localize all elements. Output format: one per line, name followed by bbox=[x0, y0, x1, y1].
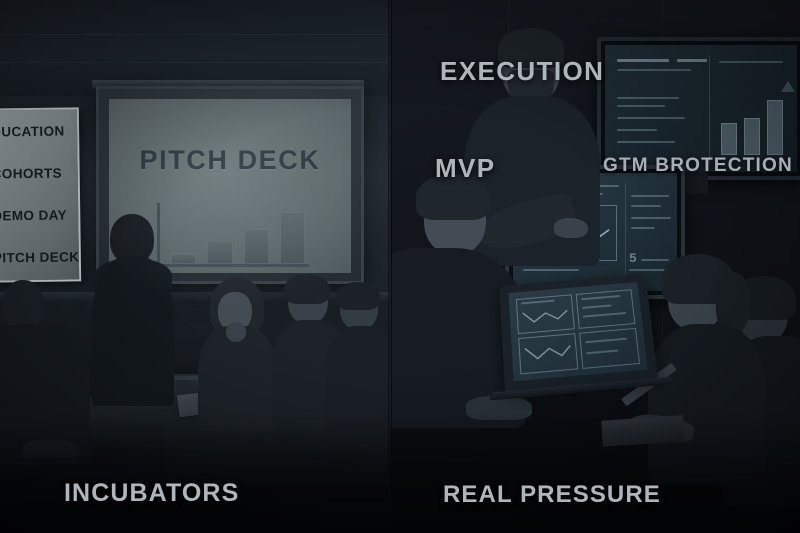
screen-text-line bbox=[617, 97, 679, 99]
dashboard-card bbox=[579, 328, 640, 369]
screen-text-line bbox=[617, 129, 657, 131]
figure-attendee-center-woman bbox=[196, 282, 278, 432]
slide-bar-chart bbox=[157, 203, 309, 267]
caption-real-pressure: REAL PRESSURE bbox=[443, 481, 661, 509]
screen-text-line bbox=[617, 141, 675, 143]
screen-heading-line bbox=[677, 59, 707, 62]
screen-text-line bbox=[631, 227, 655, 229]
screen-divider bbox=[709, 55, 710, 165]
monitor-screen bbox=[605, 45, 797, 172]
label-execution: EXECUTION bbox=[440, 56, 604, 87]
presenter-torso bbox=[92, 256, 174, 406]
chart-bar bbox=[171, 253, 196, 264]
poster-shading bbox=[0, 109, 79, 280]
attendee-hands bbox=[22, 440, 78, 458]
screen-heading-line bbox=[617, 59, 669, 62]
lead-pointing-hand bbox=[554, 218, 588, 238]
chart-bar bbox=[744, 118, 760, 155]
slide-title: PITCH DECK bbox=[109, 145, 351, 176]
chart-bar bbox=[721, 123, 737, 155]
screen-text-line bbox=[631, 195, 669, 197]
attendee-hair bbox=[284, 274, 330, 304]
dashboard-card bbox=[518, 333, 578, 374]
screen-text-line bbox=[631, 205, 661, 207]
chart-bar bbox=[280, 212, 305, 264]
monitor-bar-chart bbox=[721, 93, 783, 155]
attendee-head bbox=[2, 280, 44, 330]
screen-text-line bbox=[719, 61, 783, 63]
dashboard-card bbox=[516, 294, 575, 334]
chart-bar bbox=[244, 229, 269, 264]
screen-divider bbox=[625, 183, 626, 287]
screen-text-line bbox=[617, 69, 691, 71]
attendee-hands bbox=[226, 322, 246, 342]
label-gtm-brotection: GTM BROTECTION bbox=[603, 155, 793, 177]
figure-attendee-far-right bbox=[330, 284, 390, 434]
analyst-torso bbox=[648, 324, 766, 484]
laptop-lid bbox=[499, 274, 658, 392]
screen-text-line bbox=[617, 105, 665, 107]
split-scene-image: DUCATION COHORTS DEMO DAY PITCH DECK PIT… bbox=[0, 0, 800, 533]
dashboard-card bbox=[576, 289, 636, 329]
screen-text-line bbox=[617, 117, 685, 119]
wall-seam bbox=[0, 62, 390, 63]
attendee-hair bbox=[336, 282, 380, 310]
figure-presenter-standing bbox=[92, 214, 174, 414]
chart-x-axis bbox=[157, 264, 309, 267]
metric-readout: 5 bbox=[629, 251, 637, 266]
screen-text-line bbox=[631, 217, 671, 219]
chart-bar bbox=[767, 100, 783, 155]
trend-arrow-icon bbox=[781, 81, 795, 92]
figure-attendee-left-front bbox=[0, 280, 100, 470]
attendee-torso bbox=[326, 326, 390, 432]
laptop-screen bbox=[509, 282, 648, 381]
left-panel-incubators: DUCATION COHORTS DEMO DAY PITCH DECK PIT… bbox=[0, 0, 390, 533]
program-agenda-poster: DUCATION COHORTS DEMO DAY PITCH DECK bbox=[0, 107, 81, 282]
chart-bar bbox=[207, 241, 232, 264]
laptop-kanban bbox=[499, 274, 658, 392]
caption-incubators: INCUBATORS bbox=[64, 479, 239, 508]
chart-bars bbox=[171, 203, 305, 264]
label-mvp: MVP bbox=[435, 153, 496, 184]
wall-seam bbox=[0, 34, 390, 35]
panel-divider bbox=[388, 0, 392, 533]
